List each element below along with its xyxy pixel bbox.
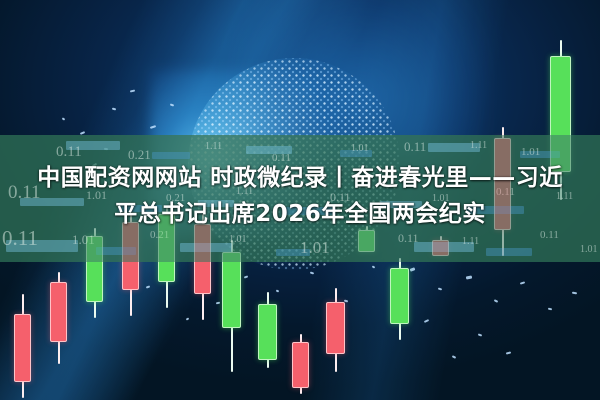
candle-body xyxy=(432,240,449,256)
price-number: 1.01 xyxy=(300,238,330,258)
candle-body xyxy=(50,282,67,342)
candlestick-down xyxy=(50,272,67,364)
price-number: 1.01 xyxy=(521,146,540,158)
candlestick-down xyxy=(14,294,31,398)
candlestick-down xyxy=(326,288,345,372)
candle-body xyxy=(292,342,309,388)
headline-line-1: 中国配资网网站 时政微纪录丨奋进春光里——习近 xyxy=(8,160,592,196)
candle-body xyxy=(258,304,277,360)
price-number: 1.11 xyxy=(470,140,487,151)
price-number: 0.11 xyxy=(404,139,426,155)
price-number: 1.11 xyxy=(462,236,479,247)
headline-text: 中国配资网网站 时政微纪录丨奋进春光里——习近 平总书记出席2026年全国两会纪… xyxy=(0,160,600,232)
candle-body xyxy=(222,252,241,328)
price-number: 1.01 xyxy=(351,143,369,154)
ticker-tape xyxy=(152,152,190,159)
candlestick-up xyxy=(258,292,277,368)
price-number: 0.11 xyxy=(398,231,419,246)
candle-body xyxy=(326,302,345,354)
price-number: 1.01 xyxy=(580,244,598,255)
candlestick-down xyxy=(292,334,309,394)
candle-body xyxy=(14,314,31,382)
candlestick-down-overlay xyxy=(432,236,449,256)
price-number: 0.11 xyxy=(56,144,82,161)
price-number: 1.11 xyxy=(205,141,222,152)
banner-image: 0.110.211.110.111.010.111.111.010.111.01… xyxy=(0,0,600,400)
headline-line-2: 平总书记出席2026年全国两会纪实 xyxy=(8,196,592,232)
candle-body xyxy=(358,230,375,252)
candle-body xyxy=(390,268,409,324)
candlestick-up xyxy=(390,258,409,340)
